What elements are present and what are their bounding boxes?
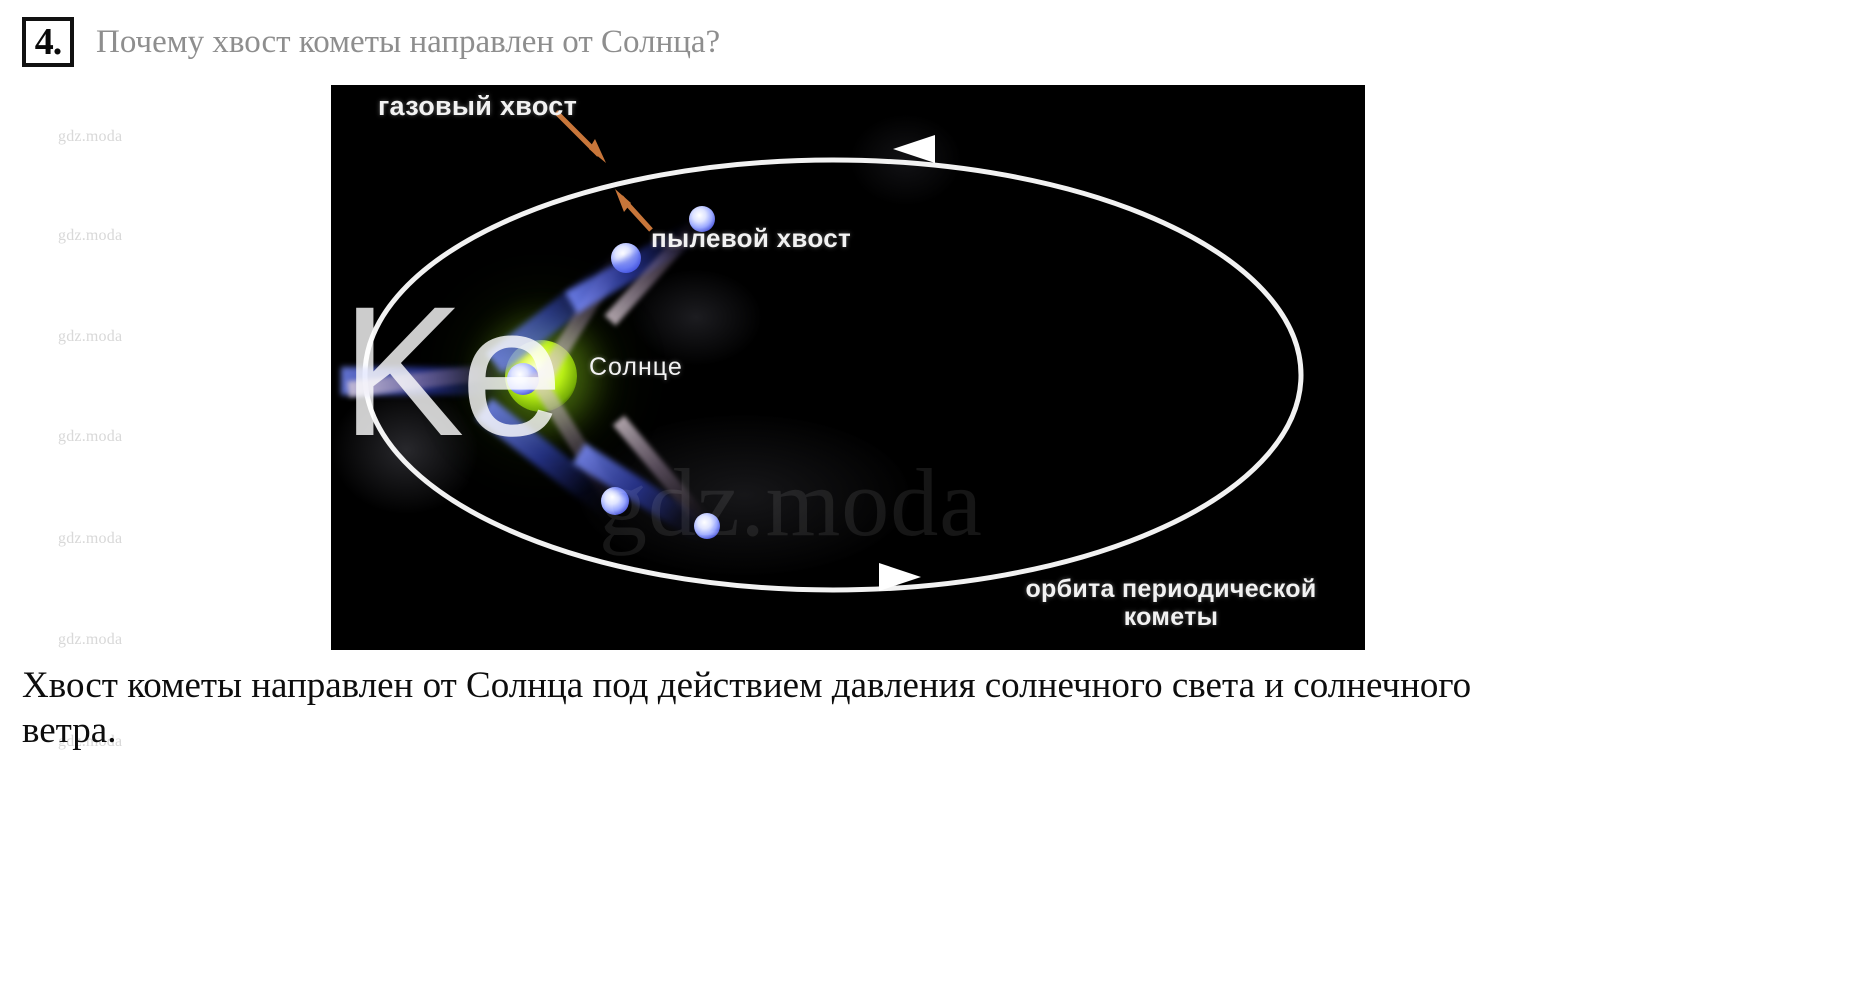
answer-text: Хвост кометы направлен от Солнца под дей… [22,663,1552,753]
label-dust-tail: пылевой хвост [651,223,851,254]
gas-tail-pointer-head [589,139,606,163]
task-number-box: 4. [22,17,74,67]
label-orbit: орбита периодической кометы [991,575,1351,631]
margin-watermark: gdz.moda [58,631,122,649]
comet-orbit-diagram: газовый хвост пылевой хвост Солнце орбит… [331,85,1365,650]
margin-watermark: gdz.moda [58,227,122,245]
label-pointer-arrows [331,85,1365,650]
question-header: 4. Почему хвост кометы направлен от Солн… [22,16,720,68]
label-sun: Солнце [589,353,683,382]
margin-watermark: gdz.moda [58,128,122,146]
label-gas-tail: газовый хвост [378,91,577,122]
margin-watermark: gdz.moda [58,428,122,446]
margin-watermark: gdz.moda [58,328,122,346]
question-text: Почему хвост кометы направлен от Солнца? [96,26,720,59]
margin-watermark: gdz.moda [58,530,122,548]
